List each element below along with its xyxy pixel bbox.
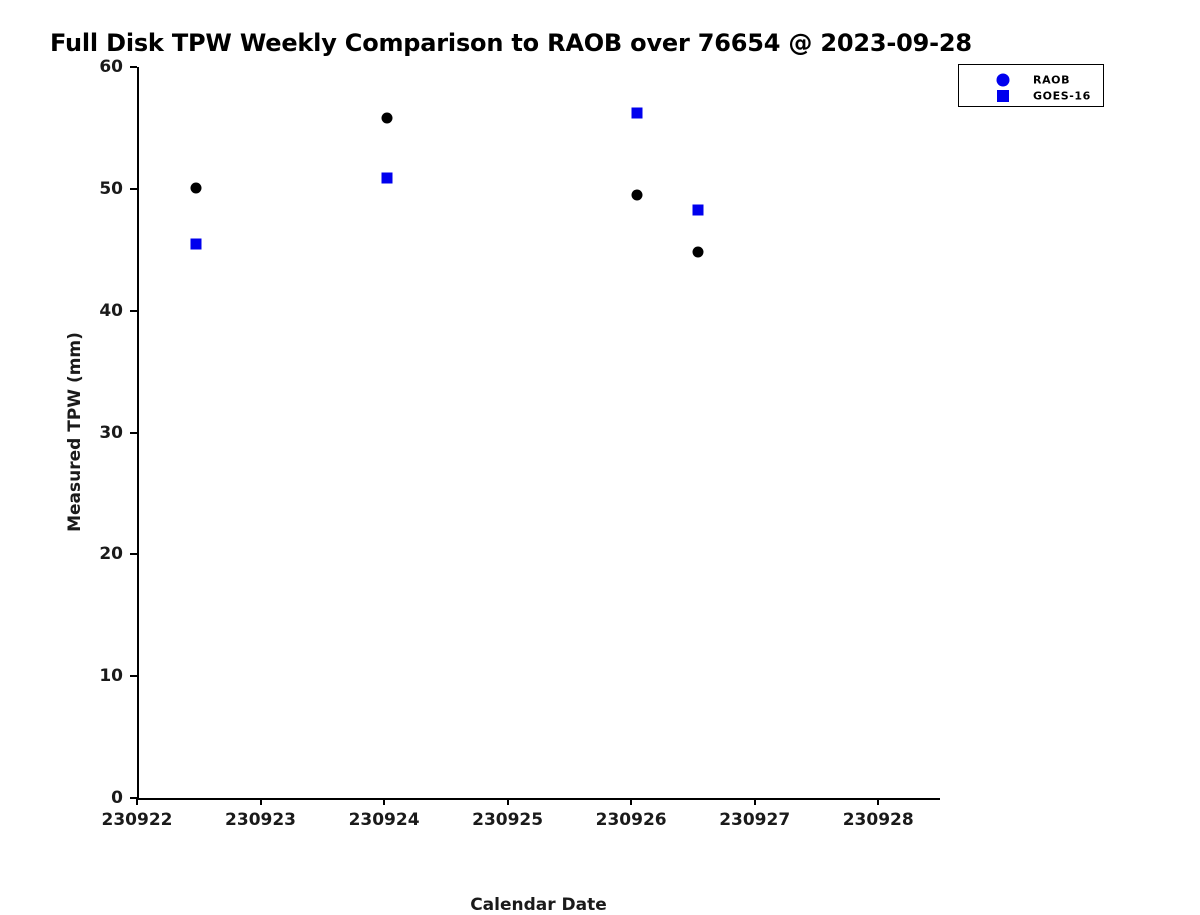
chart-legend: RAOBGOES-16 xyxy=(958,64,1104,107)
legend-marker-raob xyxy=(997,74,1010,87)
y-axis-tick xyxy=(130,310,137,312)
data-point-raob xyxy=(692,247,703,258)
y-axis-tick-label: 60 xyxy=(63,57,123,77)
y-axis-tick-label: 50 xyxy=(63,179,123,199)
y-axis-tick xyxy=(130,432,137,434)
data-point-goes-16 xyxy=(381,172,392,183)
chart-title: Full Disk TPW Weekly Comparison to RAOB … xyxy=(50,29,972,57)
data-point-raob xyxy=(381,113,392,124)
y-axis-line xyxy=(137,67,139,798)
legend-label-goes-16: GOES-16 xyxy=(1033,90,1091,103)
x-axis-label: Calendar Date xyxy=(137,895,940,915)
data-point-raob xyxy=(191,182,202,193)
y-axis-tick xyxy=(130,66,137,68)
x-axis-tick xyxy=(260,798,262,805)
x-axis-tick xyxy=(136,798,138,805)
x-axis-tick-label: 230923 xyxy=(191,810,331,830)
y-axis-tick-label: 10 xyxy=(63,666,123,686)
chart-figure: Full Disk TPW Weekly Comparison to RAOB … xyxy=(0,0,1200,900)
x-axis-tick-label: 230922 xyxy=(67,810,207,830)
x-axis-tick xyxy=(383,798,385,805)
legend-marker-goes-16 xyxy=(997,90,1009,102)
y-axis-tick xyxy=(130,553,137,555)
x-axis-tick-label: 230924 xyxy=(314,810,454,830)
x-axis-tick xyxy=(754,798,756,805)
data-point-goes-16 xyxy=(632,108,643,119)
data-point-raob xyxy=(632,189,643,200)
x-axis-tick-label: 230927 xyxy=(685,810,825,830)
x-axis-tick xyxy=(507,798,509,805)
x-axis-tick-label: 230926 xyxy=(561,810,701,830)
y-axis-tick xyxy=(130,188,137,190)
x-axis-tick-label: 230925 xyxy=(438,810,578,830)
data-point-goes-16 xyxy=(191,238,202,249)
legend-label-raob: RAOB xyxy=(1033,74,1070,87)
plot-area: 0102030405060 23092223092323092423092523… xyxy=(137,67,940,798)
x-axis-tick xyxy=(877,798,879,805)
y-axis-tick-label: 0 xyxy=(63,788,123,808)
x-axis-line xyxy=(137,798,940,800)
x-axis-tick xyxy=(630,798,632,805)
y-axis-label: Measured TPW (mm) xyxy=(65,282,85,582)
x-axis-tick-label: 230928 xyxy=(808,810,948,830)
y-axis-tick xyxy=(130,675,137,677)
data-point-goes-16 xyxy=(692,204,703,215)
